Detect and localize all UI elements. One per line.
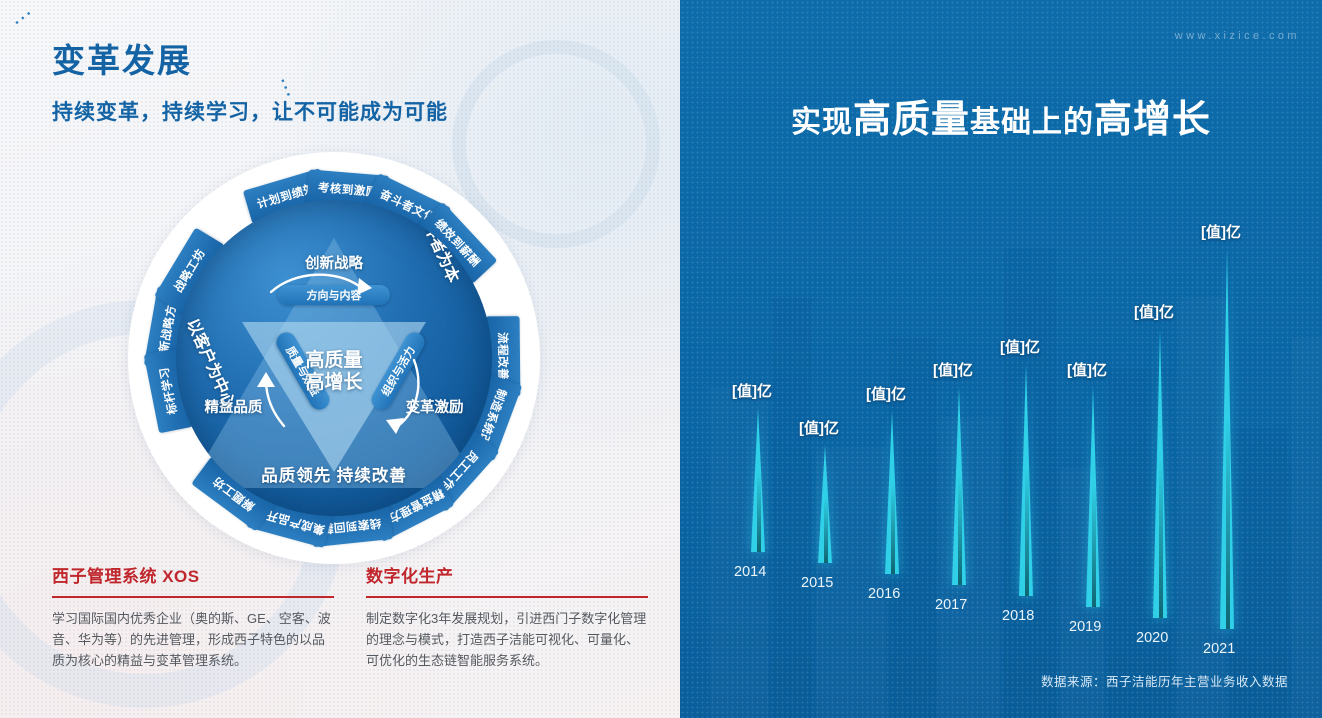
ring-inner-disc: 方向与内容 质量与效益 组织与活力 高质量 高增长 创新战略 精益品质 变革激励… [176, 200, 492, 516]
chart-category-label: 2021 [1203, 641, 1235, 657]
chart-bar-shadow [891, 484, 895, 574]
chart-value-label: [值]亿 [799, 417, 839, 438]
right-title-part3: 基础上的 [970, 106, 1094, 139]
chart-bar-shadow [1025, 468, 1029, 596]
chart-bar-shadow [824, 498, 828, 563]
chart-bar [883, 411, 901, 574]
bottom-text-blocks: 西子管理系统 XOS 学习国际国内优秀企业（奥的斯、GE、空客、波音、华为等）的… [52, 562, 648, 671]
block-xos: 西子管理系统 XOS 学习国际国内优秀企业（奥的斯、GE、空客、波音、华为等）的… [52, 562, 334, 671]
block-xos-rule [52, 596, 334, 598]
chart-bar [950, 387, 968, 585]
corner-change-incentive: 变革激励 [406, 396, 464, 417]
chart-bar [1084, 387, 1102, 607]
inverted-triangle [242, 322, 426, 472]
page-title: 变革发展 [52, 34, 448, 82]
chart-value-label: [值]亿 [1201, 221, 1241, 242]
left-panel: 变革发展 持续变革，持续学习，让不可能成为可能 创新战略方法战略工坊···计划到… [0, 0, 680, 718]
chart-value-label: [值]亿 [1134, 301, 1174, 322]
center-core-line2: 高增长 [305, 372, 362, 394]
block-xos-heading: 西子管理系统 XOS [52, 562, 334, 587]
block-xos-body: 学习国际国内优秀企业（奥的斯、GE、空客、波音、华为等）的先进管理，形成西子特色… [52, 608, 334, 671]
right-title-part4: 高增长 [1094, 99, 1211, 141]
chart-category-label: 2020 [1136, 630, 1168, 646]
bottom-label-quality-leading: 品质领先 持续改善 [261, 462, 407, 486]
chart-bar [1017, 364, 1035, 596]
xos-circular-diagram: 创新战略方法战略工坊···计划到绩效考核到激励奋斗者文化绩效到薪酬···流程改善… [128, 152, 540, 564]
chart-value-label: [值]亿 [866, 383, 906, 404]
slide-root: 变革发展 持续变革，持续学习，让不可能成为可能 创新战略方法战略工坊···计划到… [0, 0, 1322, 718]
chart-bar [749, 408, 767, 552]
chart-bar-shadow [1092, 486, 1096, 607]
left-title-group: 变革发展 持续变革，持续学习，让不可能成为可能 [52, 34, 448, 126]
right-title-part1: 实现 [791, 106, 853, 139]
center-core-text: 高质量 高增长 [305, 350, 362, 395]
chart-category-label: 2015 [801, 575, 833, 591]
chart-category-label: 2014 [734, 564, 766, 580]
chart-value-label: [值]亿 [933, 359, 973, 380]
block-digital-rule [366, 596, 648, 598]
chart-category-label: 2019 [1069, 619, 1101, 635]
right-title-part2: 高质量 [853, 99, 970, 141]
center-core-line1: 高质量 [305, 350, 362, 372]
chart-source-note: 数据来源：西子洁能历年主营业务收入数据 [1041, 671, 1288, 690]
chart-bar [1218, 249, 1236, 629]
chart-value-label: [值]亿 [1067, 359, 1107, 380]
right-panel: www.xizice.com 实现高质量基础上的高增长 [值]亿2014[值]亿… [680, 0, 1322, 718]
chart-category-label: 2018 [1002, 608, 1034, 624]
pill-direction-content: 方向与内容 [278, 285, 390, 305]
chart-category-label: 2016 [868, 586, 900, 602]
block-digital: 数字化生产 制定数字化3年发展规划，引进西门子数字化管理的理念与模式，打造西子洁… [366, 562, 648, 671]
chart-bar [816, 445, 834, 563]
chart-category-label: 2017 [935, 597, 967, 613]
block-digital-heading: 数字化生产 [366, 562, 648, 587]
right-title: 实现高质量基础上的高增长 [680, 88, 1322, 143]
ring-segment-label: ··· [1, 0, 49, 42]
chart-bar-shadow [1159, 459, 1163, 618]
ring-segment-label: ··· [0, 219, 9, 266]
block-digital-body: 制定数字化3年发展规划，引进西门子数字化管理的理念与模式，打造西子洁能可视化、可… [366, 608, 648, 671]
chart-value-label: [值]亿 [1000, 336, 1040, 357]
chart-bar-shadow [757, 473, 761, 552]
page-subtitle: 持续变革，持续学习，让不可能成为可能 [52, 96, 448, 126]
chart-value-label: [值]亿 [732, 380, 772, 401]
chart-bar [1151, 329, 1169, 618]
site-watermark: www.xizice.com [1175, 30, 1300, 42]
chart-bar-shadow [1226, 420, 1230, 629]
chart-bar-shadow [958, 476, 962, 585]
corner-innovation-strategy: 创新战略 [305, 252, 363, 273]
